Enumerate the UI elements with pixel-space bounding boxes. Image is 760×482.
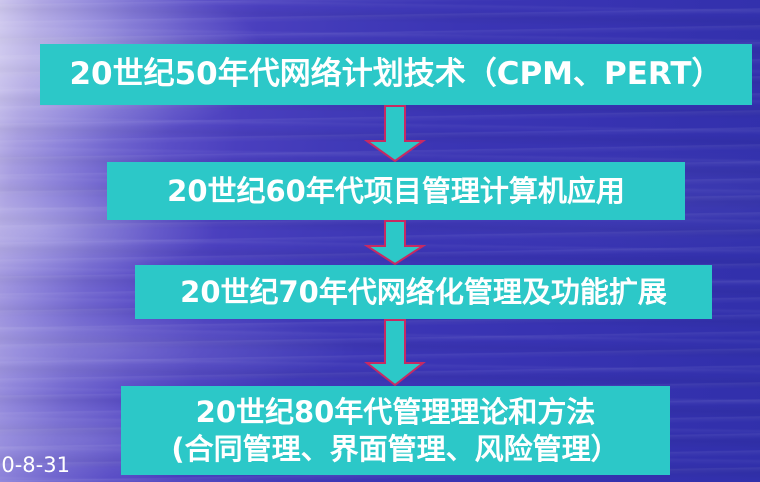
down-arrow-icon-3 [364,319,426,387]
flow-step-4[interactable]: 20世纪80年代管理理论和方法 (合同管理、界面管理、风险管理） [121,386,670,475]
flow-step-2[interactable]: 20世纪60年代项目管理计算机应用 [107,162,685,220]
slide-canvas: 20世纪50年代网络计划技术（CPM、PERT） 20世纪60年代项目管理计算机… [0,0,760,482]
down-arrow-icon-1 [364,105,426,163]
flow-step-3-label: 20世纪70年代网络化管理及功能扩展 [180,275,667,309]
down-arrow-icon-2 [364,220,426,266]
flow-step-4-label-line1: 20世纪80年代管理理论和方法 [196,395,596,429]
flow-step-4-label-line2: (合同管理、界面管理、风险管理） [171,432,619,466]
slide-date: 20-8-31 [0,453,70,477]
flow-step-1[interactable]: 20世纪50年代网络计划技术（CPM、PERT） [40,44,752,105]
flow-step-1-label: 20世纪50年代网络计划技术（CPM、PERT） [69,56,722,93]
flow-step-2-label: 20世纪60年代项目管理计算机应用 [167,174,625,208]
flow-step-3[interactable]: 20世纪70年代网络化管理及功能扩展 [135,265,712,319]
